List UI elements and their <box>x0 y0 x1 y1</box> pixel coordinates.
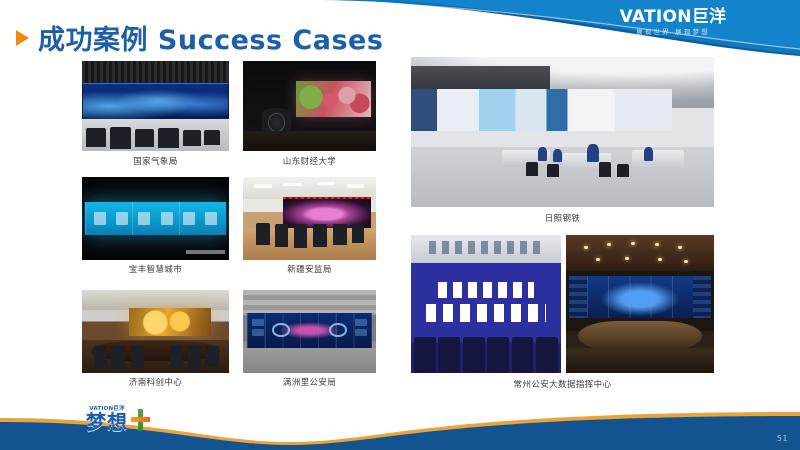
case-caption: 满洲里公安局 <box>243 376 376 388</box>
changzhou-police-command-center-photos <box>411 235 561 373</box>
brand-logo: VATION巨洋 展现世界 展现梦想 <box>598 9 748 43</box>
case-caption: 宝丰智慧城市 <box>82 263 229 275</box>
meeting-room-flower-display-photo <box>243 177 376 260</box>
slide-footer: VATION巨洋 梦想 51 <box>0 398 800 450</box>
cz-banner-line2 <box>426 304 546 322</box>
case-caption: 常州公安大数据指挥中心 <box>411 378 714 390</box>
case-caption: 日照钢铁 <box>411 212 714 224</box>
brand-name: VATION巨洋 <box>598 9 748 26</box>
case-item[interactable]: 日照钢铁 <box>411 57 714 207</box>
page-title: 成功案例 Success Cases <box>16 18 383 57</box>
case-item[interactable] <box>411 235 561 373</box>
case-item[interactable]: 常州公安大数据指挥中心 <box>566 235 714 373</box>
slide: VATION巨洋 展现世界 展现梦想 成功案例 Success Cases <box>0 0 800 450</box>
case-item[interactable]: 国家气象局 <box>82 61 229 151</box>
cyan-led-display-wall-photo <box>82 177 229 260</box>
case-item[interactable]: 济南科创中心 <box>82 290 229 373</box>
large-bright-control-room-photo <box>411 57 714 207</box>
footer-brand-big: 梦想 <box>86 412 128 432</box>
triangle-right-icon <box>16 30 29 46</box>
case-caption: 新疆安监局 <box>243 263 376 275</box>
case-caption: 济南科创中心 <box>82 376 229 388</box>
gold-conference-room-photo <box>82 290 229 373</box>
blue-control-room-photo <box>82 61 229 151</box>
case-caption: 山东财经大学 <box>243 155 376 167</box>
footer-logo: VATION巨洋 梦想 <box>86 398 198 432</box>
case-item[interactable]: 山东财经大学 <box>243 61 376 151</box>
page-title-text: 成功案例 Success Cases <box>38 18 383 57</box>
changzhou-command-room-photo <box>566 235 714 373</box>
case-item[interactable]: 满洲里公安局 <box>243 290 376 373</box>
case-gallery: 国家气象局 山东财经大学 <box>0 55 800 400</box>
plus-icon <box>131 409 150 431</box>
case-item[interactable]: 宝丰智慧城市 <box>82 177 229 260</box>
brand-tagline: 展现世界 展现梦想 <box>598 29 748 36</box>
case-caption: 国家气象局 <box>82 155 229 167</box>
dark-auditorium-led-wall-photo <box>243 61 376 151</box>
cz-banner-line1 <box>438 282 534 299</box>
case-item[interactable]: 新疆安监局 <box>243 177 376 260</box>
page-number: 51 <box>777 434 788 443</box>
blue-data-visualization-wall-photo <box>243 290 376 373</box>
